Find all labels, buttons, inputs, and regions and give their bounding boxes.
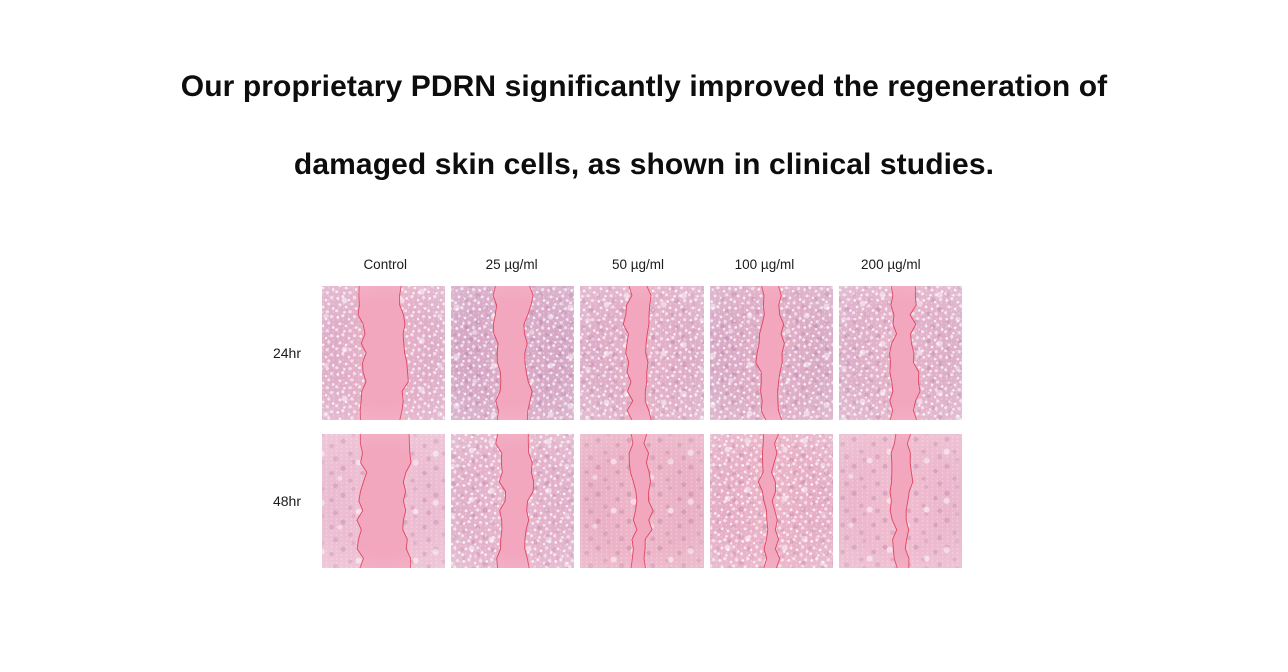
wound-edge-outline bbox=[358, 286, 408, 420]
page-title-line-1: Our proprietary PDRN significantly impro… bbox=[0, 48, 1288, 126]
scratch-wound-gap bbox=[451, 434, 574, 568]
micrograph-panel bbox=[710, 434, 833, 568]
scratch-wound-gap bbox=[322, 434, 445, 568]
scratch-wound-gap bbox=[451, 286, 574, 420]
wound-edge-outline bbox=[493, 286, 533, 420]
wound-edge-outline bbox=[630, 434, 654, 568]
figure-column-headers: Control 25 µg/ml 50 µg/ml 100 µg/ml 200 … bbox=[322, 252, 954, 278]
wound-edge-outline bbox=[624, 286, 652, 420]
panel-strip-48hr bbox=[322, 434, 962, 568]
column-header-100ugml: 100 µg/ml bbox=[701, 252, 827, 278]
wound-edge-outline bbox=[758, 434, 779, 568]
wound-edge-outline bbox=[890, 434, 913, 568]
column-header-control: Control bbox=[322, 252, 448, 278]
micrograph-panel bbox=[839, 286, 962, 420]
micrograph-panel bbox=[322, 434, 445, 568]
wound-edge-outline bbox=[755, 286, 784, 420]
micrograph-panel bbox=[580, 434, 703, 568]
micrograph-panel bbox=[839, 434, 962, 568]
scratch-wound-gap bbox=[322, 286, 445, 420]
wound-edge-outline bbox=[496, 434, 534, 568]
scratch-assay-figure: Control 25 µg/ml 50 µg/ml 100 µg/ml 200 … bbox=[252, 252, 962, 572]
wound-edge-outline bbox=[889, 286, 919, 420]
panel-strip-24hr bbox=[322, 286, 962, 420]
figure-row-48hr: 48hr bbox=[252, 434, 962, 568]
micrograph-panel bbox=[451, 286, 574, 420]
scratch-wound-gap bbox=[710, 434, 833, 568]
scratch-wound-gap bbox=[580, 434, 703, 568]
page-title: Our proprietary PDRN significantly impro… bbox=[0, 48, 1288, 204]
scratch-wound-gap bbox=[839, 434, 962, 568]
scratch-wound-gap bbox=[710, 286, 833, 420]
scratch-wound-gap bbox=[839, 286, 962, 420]
scratch-wound-gap bbox=[580, 286, 703, 420]
wound-edge-outline bbox=[357, 434, 411, 568]
page-title-line-2: damaged skin cells, as shown in clinical… bbox=[0, 126, 1288, 204]
figure-panel-grid: 24hr 48hr bbox=[252, 286, 962, 572]
figure-row-24hr: 24hr bbox=[252, 286, 962, 420]
micrograph-panel bbox=[322, 286, 445, 420]
micrograph-panel bbox=[451, 434, 574, 568]
column-header-50ugml: 50 µg/ml bbox=[575, 252, 701, 278]
micrograph-panel bbox=[710, 286, 833, 420]
row-label-24hr: 24hr bbox=[252, 345, 322, 361]
column-header-25ugml: 25 µg/ml bbox=[448, 252, 574, 278]
column-header-200ugml: 200 µg/ml bbox=[828, 252, 954, 278]
micrograph-panel bbox=[580, 286, 703, 420]
row-label-48hr: 48hr bbox=[252, 493, 322, 509]
